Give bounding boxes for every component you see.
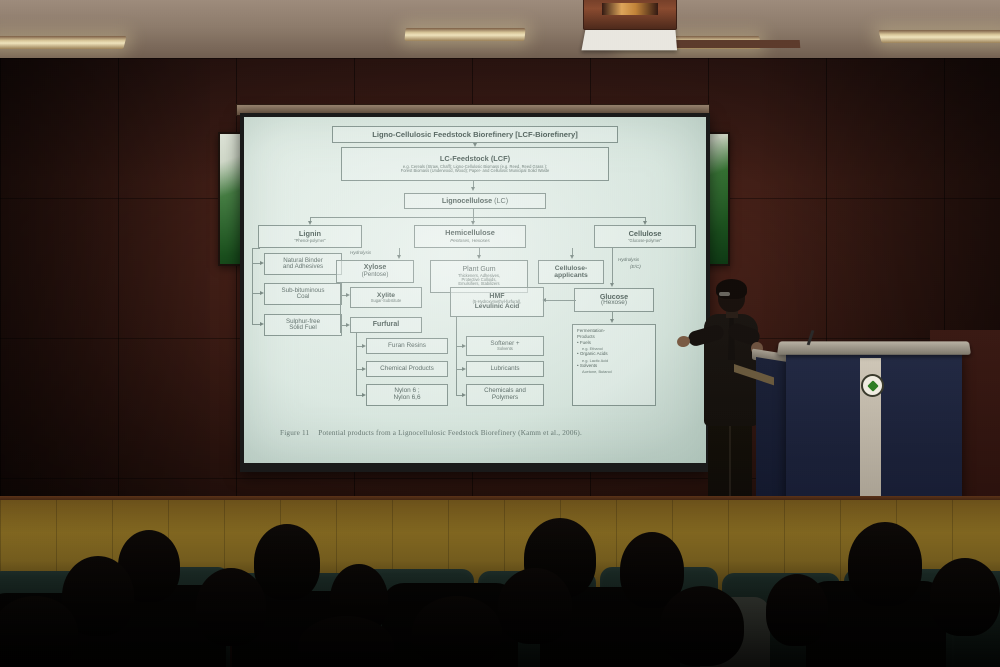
xylite-box: Xylite Sugar-Substitute [350,287,422,308]
figure-caption-text: Potential products from a Lignocellulosi… [318,429,582,437]
hmf-product-box: Lubricants [466,361,544,377]
connector [456,317,457,395]
cellulose-applicants-line1: Cellulose- [555,265,587,272]
furfural-product-line1: Chemical Products [380,366,434,373]
hemicellulose-title: Hemicellulose [445,229,495,237]
lignin-box: Lignin “Phenol-polymer” [258,225,362,248]
lignin-product-box: Natural Binder and Adhesives [264,253,342,275]
hmf-product-line1: Lubricants [490,366,519,373]
fermentation-list: Fermentation- Products • Fuels e.g. Etha… [573,328,612,374]
lignin-product-line2: Coal [297,294,310,301]
ceiling-light-fixture [0,36,127,49]
lc-feedstock-line2: Forest Biomass (Underwood, Wood); Paper-… [401,169,550,173]
audience-head [766,574,828,646]
presenter-hair [716,279,747,299]
cellulose-title: Cellulose [629,230,662,238]
ceiling-light-fixture [878,30,1000,43]
connector [612,248,613,285]
lignin-sub: “Phenol-polymer” [294,239,325,243]
podium-leaf-logo-icon [861,374,884,397]
hemicellulose-sub: Pentoses, Hexoses [450,239,490,244]
audience [0,500,1000,667]
furfural-box: Furfural [350,317,422,333]
projection-screen-frame: Ligno-Cellulosic Feedstock Biorefinery [… [240,113,710,472]
figure-number: Figure 11 [280,429,309,437]
plant-gum-s3: Emulsifiers, Stabilizers [458,282,499,286]
cellulose-applicants-line2: applicants [554,272,588,279]
cellulose-box: Cellulose “Glucose-polymer” [594,225,696,248]
connector [473,209,474,217]
presenter [690,282,762,532]
audience-head [848,522,922,606]
lc-feedstock-heading: LC-Feedstock (LCF) [440,155,510,163]
lecture-hall-photo: 전 Ligno-Cellulosic Feedstock Biorefinery… [0,0,1000,667]
hemicellulose-box: Hemicellulose Pentoses, Hexoses [414,225,526,248]
furfural-product-line1: Furan Resins [388,343,426,350]
fermentation-products-box: Fermentation- Products • Fuels e.g. Etha… [572,324,656,406]
furfural-product-box: Furan Resins [366,338,448,354]
cellulose-applicants-box: Cellulose- applicants [538,260,604,284]
presenter-glasses [719,292,730,296]
connector [252,248,253,325]
connector [544,300,576,301]
xylite-sub: Sugar-Substitute [371,299,402,303]
lignocellulose-label: Lignocellulose [442,196,492,205]
audience-head [498,568,572,644]
hmf-product-box: Chemicals and Polymers [466,384,544,406]
hmf-product-box: Softener + Solvents [466,336,544,356]
arrow-down [570,255,574,259]
projector-lens [602,3,658,15]
audience-head [412,596,502,667]
furfural-product-line2: Nylon 6,6 [394,395,421,402]
hydrolysis-ec-label-line1: Hydrolysis [618,257,639,262]
furfural-title: Furfural [373,321,399,328]
slide-diagram: Ligno-Cellulosic Feedstock Biorefinery [… [244,117,706,463]
connector [252,248,260,249]
hmf-title2: Levulinic Acid [475,304,519,311]
hmf-product-line2: Polymers [492,395,518,402]
fermentation-item: • Organic Acids [577,351,612,357]
xylose-title: Xylose [364,264,387,271]
xylose-box: Xylose (Pentose) [336,260,414,283]
cellulose-sub: “Glucose-polymer” [628,239,662,243]
projection-screen: Ligno-Cellulosic Feedstock Biorefinery [… [244,117,706,463]
ceiling-projector [583,0,677,30]
wall-shadow-left [0,58,210,558]
lignin-product-box: Sulphur-free Solid Fuel [264,314,342,336]
arrow-down [610,283,614,287]
audience-head [930,558,1000,636]
lc-feedstock-box: LC-Feedstock (LCF) e.g. Cereals (Straw, … [341,147,609,181]
arrow-down [471,187,475,191]
figure-caption: Figure 11Potential products from a Ligno… [280,429,680,437]
arrow-down [477,255,481,259]
lignin-product-line2: Solid Fuel [289,325,317,332]
audience-head [660,586,744,666]
arrow-down [397,255,401,259]
lignin-product-box: Sub-bituminous Coal [264,283,342,305]
hydrolysis-ec-label-line2: (E/C) [630,264,641,269]
connector [310,217,645,218]
hydrolysis-label: Hydrolysis [350,250,371,255]
audience-head [0,596,78,667]
hmf-product-line2: Solvents [497,347,513,351]
fermentation-item-sub: e.g. Lactic Acid [577,358,612,363]
glucose-sub: (Hexose) [601,300,627,307]
furfural-product-box: Chemical Products [366,361,448,377]
furfural-product-box: Nylon 6 ; Nylon 6,6 [366,384,448,406]
slide-title: Ligno-Cellulosic Feedstock Biorefinery [… [372,131,577,139]
podium-top-surface [777,341,971,354]
connector [356,333,357,395]
lignocellulose-box: Lignocellulose (LC) [404,193,546,209]
slide-title-box: Ligno-Cellulosic Feedstock Biorefinery [… [332,126,618,143]
audience-head [254,524,320,600]
fermentation-item-sub: Acetone, Butanol [577,369,612,374]
arrow-down [610,319,614,323]
lignin-title: Lignin [299,230,321,238]
ceiling-light-fixture [404,28,525,41]
xylose-sub: (Pentose) [362,272,389,279]
lignin-product-line2: and Adhesives [283,264,323,271]
audience-head [196,568,266,646]
glucose-box: Glucose (Hexose) [574,288,654,312]
lignocellulose-suffix: (LC) [492,196,508,205]
hmf-box: HMF (5-Hydroxymethyl-furfural), Levulini… [450,287,544,317]
